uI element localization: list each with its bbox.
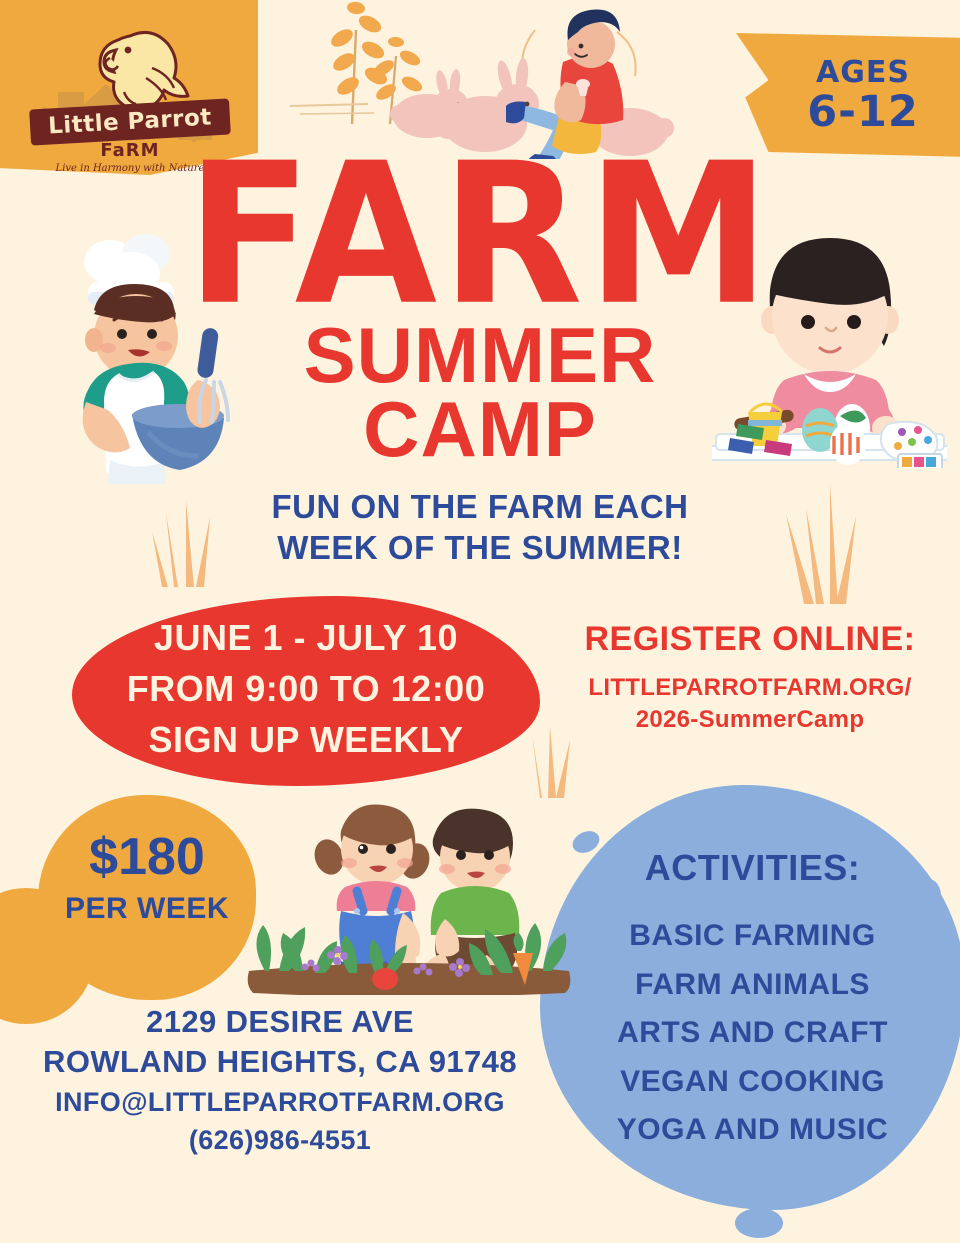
blue-accent-dot-bottom (735, 1208, 783, 1238)
activity-item: YOGA AND MUSIC (560, 1106, 945, 1155)
leafy-branch-decoration (290, 0, 430, 129)
activity-item: ARTS AND CRAFT (560, 1009, 945, 1058)
tagline-line-2: WEEK OF THE SUMMER! (0, 527, 960, 568)
schedule-text: JUNE 1 - JULY 10 FROM 9:00 TO 12:00 SIGN… (72, 612, 540, 765)
activity-item: FARM ANIMALS (560, 961, 945, 1010)
activities-list: BASIC FARMING FARM ANIMALS ARTS AND CRAF… (560, 912, 945, 1155)
activity-item: VEGAN COOKING (560, 1058, 945, 1107)
schedule-hours: FROM 9:00 TO 12:00 (72, 663, 540, 714)
headline-summer: SUMMER (0, 318, 960, 393)
schedule-signup: SIGN UP WEEKLY (72, 714, 540, 765)
register-url-line-1: LITTLEPARROTFARM.ORG/ (575, 672, 925, 704)
gardening-kids-illustration (245, 795, 575, 995)
contact-email[interactable]: INFO@LITTLEPARROTFARM.ORG (20, 1083, 540, 1122)
ages-label: AGES (816, 55, 910, 90)
ages-range: 6-12 (807, 90, 919, 135)
contact-block: 2129 DESIRE AVE ROWLAND HEIGHTS, CA 9174… (20, 1002, 540, 1160)
price-amount: $180 (38, 827, 256, 887)
headline-camp: CAMP (0, 392, 960, 467)
contact-phone[interactable]: (626)986-4551 (20, 1122, 540, 1160)
contact-city-state-zip: ROWLAND HEIGHTS, CA 91748 (20, 1042, 540, 1082)
tagline-line-1: FUN ON THE FARM EACH (0, 486, 960, 527)
contact-street: 2129 DESIRE AVE (20, 1002, 540, 1042)
summer-camp-flyer: Little Parrot FaRM Live in Harmony with … (0, 0, 960, 1243)
schedule-dates: JUNE 1 - JULY 10 (72, 612, 540, 663)
activity-item: BASIC FARMING (560, 912, 945, 961)
activities-title: ACTIVITIES: (560, 847, 945, 889)
price-period: PER WEEK (38, 892, 256, 926)
register-url[interactable]: LITTLEPARROTFARM.ORG/ 2026-SummerCamp (575, 672, 925, 737)
headline-tagline: FUN ON THE FARM EACH WEEK OF THE SUMMER! (0, 486, 960, 569)
register-title: REGISTER ONLINE: (575, 620, 925, 659)
headline-farm: FARM (0, 143, 960, 328)
register-url-line-2: 2026-SummerCamp (575, 704, 925, 736)
